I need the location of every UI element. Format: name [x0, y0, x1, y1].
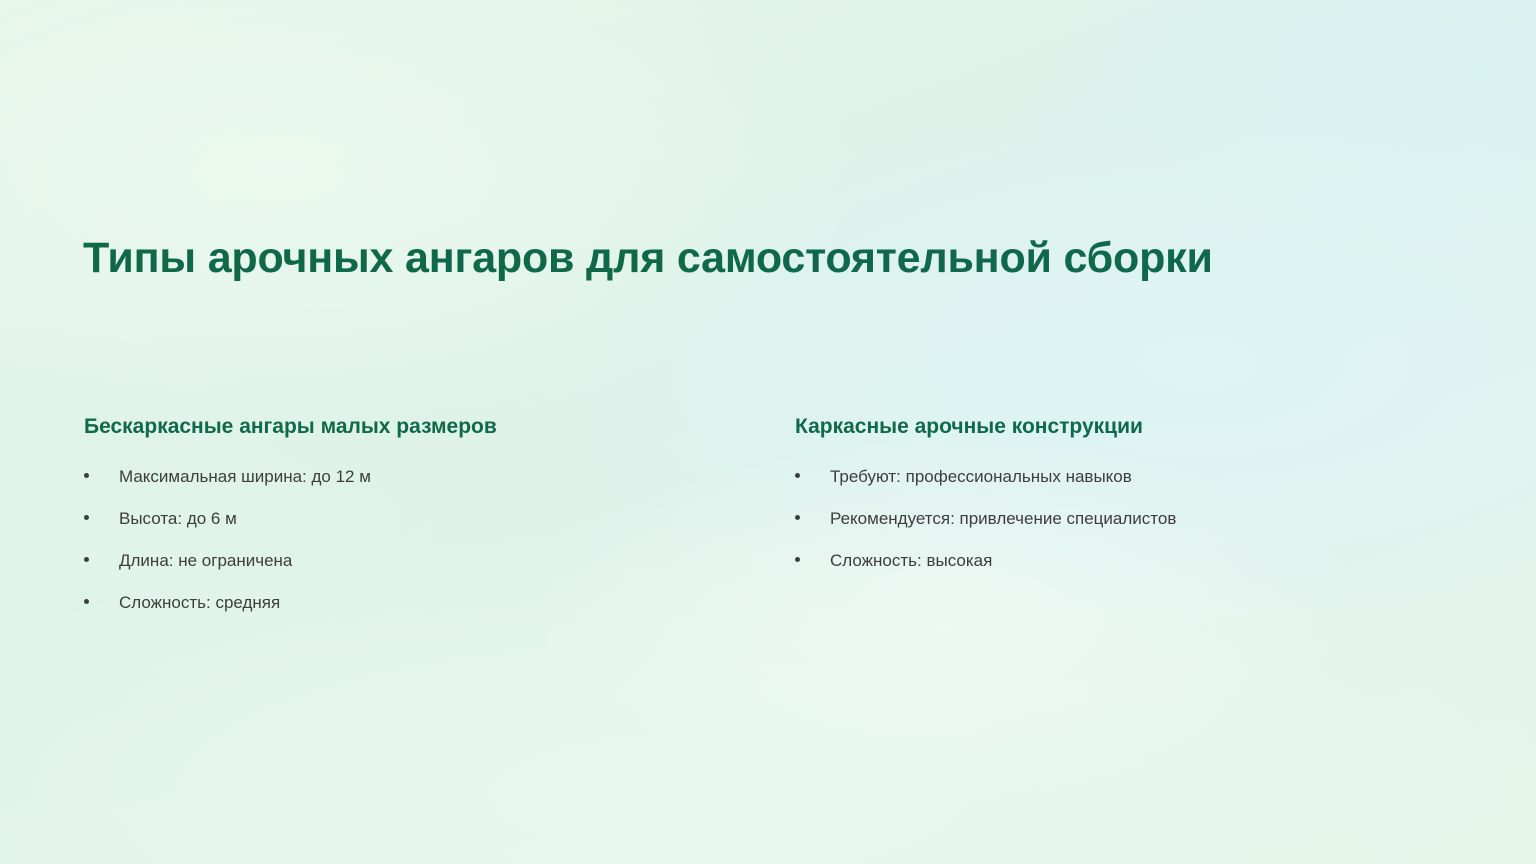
list-item-label: Рекомендуется: привлечение специалистов [830, 509, 1176, 528]
page-title: Типы арочных ангаров для самостоятельной… [83, 233, 1283, 284]
bullet-dot-icon [84, 515, 89, 520]
column-framed-arch-structures: Каркасные арочные конструкции Требуют: п… [795, 414, 1455, 571]
column-frameless-hangars: Бескаркасные ангары малых размеров Макси… [84, 414, 744, 613]
bullet-dot-icon [84, 473, 89, 478]
list-item: Сложность: высокая [795, 550, 1455, 571]
slide: Типы арочных ангаров для самостоятельной… [0, 0, 1536, 864]
list-item-label: Длина: не ограничена [119, 551, 292, 570]
bullet-list-left: Максимальная ширина: до 12 м Высота: до … [84, 466, 744, 613]
bullet-dot-icon [795, 473, 800, 478]
bullet-dot-icon [84, 557, 89, 562]
column-heading-left: Бескаркасные ангары малых размеров [84, 414, 744, 440]
list-item-label: Требуют: профессиональных навыков [830, 467, 1132, 486]
bullet-dot-icon [795, 515, 800, 520]
list-item: Требуют: профессиональных навыков [795, 466, 1455, 487]
list-item-label: Максимальная ширина: до 12 м [119, 467, 371, 486]
list-item: Высота: до 6 м [84, 508, 744, 529]
bullet-list-right: Требуют: профессиональных навыков Рекоме… [795, 466, 1455, 571]
list-item-label: Сложность: средняя [119, 593, 280, 612]
list-item: Максимальная ширина: до 12 м [84, 466, 744, 487]
bullet-dot-icon [795, 557, 800, 562]
list-item: Длина: не ограничена [84, 550, 744, 571]
list-item: Рекомендуется: привлечение специалистов [795, 508, 1455, 529]
list-item: Сложность: средняя [84, 592, 744, 613]
list-item-label: Сложность: высокая [830, 551, 992, 570]
bullet-dot-icon [84, 599, 89, 604]
column-heading-right: Каркасные арочные конструкции [795, 414, 1455, 440]
list-item-label: Высота: до 6 м [119, 509, 237, 528]
slide-content: Типы арочных ангаров для самостоятельной… [0, 0, 1536, 864]
